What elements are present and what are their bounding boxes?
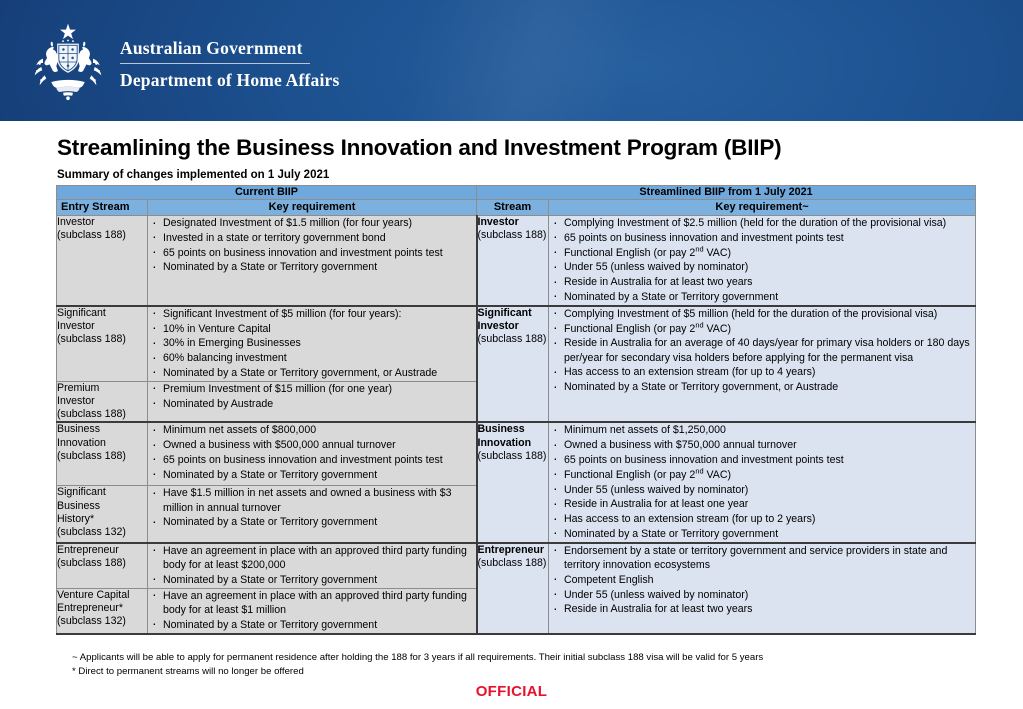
requirement-item: Minimum net assets of $800,000 <box>148 423 476 437</box>
requirement-list: Minimum net assets of $800,000Owned a bu… <box>148 423 476 482</box>
key-requirement-cell-streamlined: Endorsement by a state or territory gove… <box>549 543 976 634</box>
footnote-asterisk: * Direct to permanent streams will no lo… <box>72 665 972 679</box>
requirement-item: Under 55 (unless waived by nominator) <box>549 483 975 497</box>
table-row: Entrepreneur(subclass 188)Have an agreem… <box>57 543 976 588</box>
key-requirement-cell-current: Significant Investment of $5 million (fo… <box>148 306 477 381</box>
requirement-item: 30% in Emerging Businesses <box>148 336 476 350</box>
requirement-item: Minimum net assets of $1,250,000 <box>549 423 975 437</box>
requirement-item: Complying Investment of $2.5 million (he… <box>549 216 975 230</box>
requirement-list: Have an agreement in place with an appro… <box>148 544 476 587</box>
government-line-1: Australian Government <box>120 38 380 58</box>
entry-stream-cell: Entrepreneur(subclass 188) <box>57 543 148 588</box>
requirement-item: 10% in Venture Capital <box>148 322 476 336</box>
table-group-header-row: Current BIIP Streamlined BIIP from 1 Jul… <box>57 186 976 200</box>
stream-subclass: (subclass 188) <box>478 557 549 570</box>
footnotes: ~ Applicants will be able to apply for p… <box>72 651 972 678</box>
entry-stream-label: Venture CapitalEntrepreneur*(subclass 13… <box>57 589 147 629</box>
requirement-item: 60% balancing investment <box>148 351 476 365</box>
group-header-streamlined-biip: Streamlined BIIP from 1 July 2021 <box>477 186 976 200</box>
column-header-stream: Stream <box>477 200 549 216</box>
requirement-item: Nominated by a State or Territory govern… <box>148 573 476 587</box>
requirement-item: Has access to an extension stream (for u… <box>549 512 975 526</box>
requirement-item: Reside in Australia for at least two yea… <box>549 275 975 289</box>
group-header-current-biip: Current BIIP <box>57 186 477 200</box>
biip-comparison-table: Current BIIP Streamlined BIIP from 1 Jul… <box>56 185 976 635</box>
table-body: Investor(subclass 188)Designated Investm… <box>57 216 976 634</box>
table-row: SignificantInvestor(subclass 188)Signifi… <box>57 306 976 381</box>
requirement-item: Functional English (or pay 2nd VAC) <box>549 322 975 336</box>
key-requirement-cell-streamlined: Complying Investment of $2.5 million (he… <box>549 216 976 306</box>
requirement-item: Has access to an extension stream (for u… <box>549 365 975 379</box>
stream-label: SignificantInvestor <box>478 307 549 333</box>
requirement-item: Nominated by a State or Territory govern… <box>148 260 476 274</box>
entry-stream-cell: PremiumInvestor(subclass 188) <box>57 381 148 422</box>
requirement-item: Functional English (or pay 2nd VAC) <box>549 468 975 482</box>
table-column-header-row: Entry Stream Key requirement Stream Key … <box>57 200 976 216</box>
requirement-item: Complying Investment of $5 million (held… <box>549 307 975 321</box>
entry-stream-label: BusinessInnovation(subclass 188) <box>57 423 147 463</box>
requirement-item: Nominated by a State or Territory govern… <box>148 468 476 482</box>
column-header-key-requirement-right: Key requirement~ <box>549 200 976 216</box>
requirement-item: Invested in a state or territory governm… <box>148 231 476 245</box>
stream-cell: Entrepreneur(subclass 188) <box>477 543 549 634</box>
stream-label: BusinessInnovation <box>478 423 549 449</box>
requirement-item: Competent English <box>549 573 975 587</box>
key-requirement-cell-current: Have $1.5 million in net assets and owne… <box>148 486 477 543</box>
key-requirement-cell-current: Have an agreement in place with an appro… <box>148 543 477 588</box>
key-requirement-cell-streamlined: Complying Investment of $5 million (held… <box>549 306 976 423</box>
page-banner: Australian Government Department of Home… <box>0 0 1023 121</box>
requirement-list: Endorsement by a state or territory gove… <box>549 544 975 617</box>
classification-marking: OFFICIAL <box>0 683 1023 700</box>
stream-subclass: (subclass 188) <box>478 450 549 463</box>
requirement-item: Reside in Australia for at least two yea… <box>549 602 975 616</box>
footnote-tilde: ~ Applicants will be able to apply for p… <box>72 651 972 665</box>
stream-cell: BusinessInnovation(subclass 188) <box>477 422 549 542</box>
requirement-list: Have $1.5 million in net assets and owne… <box>148 486 476 529</box>
requirement-item: Nominated by a State or Territory govern… <box>549 290 975 304</box>
requirement-item: Have $1.5 million in net assets and owne… <box>148 486 476 515</box>
table-row: Investor(subclass 188)Designated Investm… <box>57 216 976 306</box>
requirement-list: Premium Investment of $15 million (for o… <box>148 382 476 411</box>
requirement-list: Complying Investment of $5 million (held… <box>549 307 975 395</box>
requirement-item: Nominated by Austrade <box>148 397 476 411</box>
requirement-list: Designated Investment of $1.5 million (f… <box>148 216 476 275</box>
entry-stream-label: PremiumInvestor(subclass 188) <box>57 382 147 422</box>
department-line-2: Department of Home Affairs <box>120 70 380 90</box>
requirement-item: Under 55 (unless waived by nominator) <box>549 588 975 602</box>
key-requirement-cell-current: Have an agreement in place with an appro… <box>148 588 477 633</box>
entry-stream-cell: SignificantBusinessHistory*(subclass 132… <box>57 486 148 543</box>
requirement-list: Minimum net assets of $1,250,000Owned a … <box>549 423 975 541</box>
requirement-item: Nominated by a State or Territory govern… <box>148 366 476 380</box>
requirement-item: Have an agreement in place with an appro… <box>148 589 476 618</box>
page-subtitle: Summary of changes implemented on 1 July… <box>57 169 329 181</box>
entry-stream-cell: Venture CapitalEntrepreneur*(subclass 13… <box>57 588 148 633</box>
key-requirement-cell-current: Premium Investment of $15 million (for o… <box>148 381 477 422</box>
entry-stream-label: SignificantBusinessHistory*(subclass 132… <box>57 486 147 539</box>
requirement-item: Premium Investment of $15 million (for o… <box>148 382 476 396</box>
requirement-list: Complying Investment of $2.5 million (he… <box>549 216 975 304</box>
requirement-item: 65 points on business innovation and inv… <box>549 231 975 245</box>
column-header-entry-stream: Entry Stream <box>57 200 148 216</box>
requirement-item: 65 points on business innovation and inv… <box>148 246 476 260</box>
requirement-item: Endorsement by a state or territory gove… <box>549 544 975 573</box>
stream-cell: Investor(subclass 188) <box>477 216 549 306</box>
entry-stream-label: Entrepreneur(subclass 188) <box>57 544 147 570</box>
key-requirement-cell-streamlined: Minimum net assets of $1,250,000Owned a … <box>549 422 976 542</box>
australian-coat-of-arms-icon <box>25 22 111 102</box>
requirement-item: Nominated by a State or Territory govern… <box>549 380 975 394</box>
page-title: Streamlining the Business Innovation and… <box>57 135 781 161</box>
requirement-list: Have an agreement in place with an appro… <box>148 589 476 632</box>
requirement-item: Reside in Australia for an average of 40… <box>549 336 975 365</box>
requirement-item: Significant Investment of $5 million (fo… <box>148 307 476 321</box>
requirement-item: 65 points on business innovation and inv… <box>549 453 975 467</box>
column-header-key-requirement-left: Key requirement <box>148 200 477 216</box>
requirement-item: Nominated by a State or Territory govern… <box>148 515 476 529</box>
stream-label: Entrepreneur <box>478 544 549 557</box>
table-row: BusinessInnovation(subclass 188)Minimum … <box>57 422 976 486</box>
requirement-item: 65 points on business innovation and inv… <box>148 453 476 467</box>
requirement-item: Nominated by a State or Territory govern… <box>148 618 476 632</box>
stream-subclass: (subclass 188) <box>478 333 549 346</box>
requirement-item: Designated Investment of $1.5 million (f… <box>148 216 476 230</box>
stream-label: Investor <box>478 216 549 229</box>
stream-subclass: (subclass 188) <box>478 229 549 242</box>
requirement-list: Significant Investment of $5 million (fo… <box>148 307 476 380</box>
key-requirement-cell-current: Minimum net assets of $800,000Owned a bu… <box>148 422 477 486</box>
requirement-item: Have an agreement in place with an appro… <box>148 544 476 573</box>
requirement-item: Nominated by a State or Territory govern… <box>549 527 975 541</box>
entry-stream-label: SignificantInvestor(subclass 188) <box>57 307 147 347</box>
entry-stream-label: Investor(subclass 188) <box>57 216 147 242</box>
entry-stream-cell: SignificantInvestor(subclass 188) <box>57 306 148 381</box>
requirement-item: Owned a business with $750,000 annual tu… <box>549 438 975 452</box>
wordmark-divider <box>120 63 310 64</box>
requirement-item: Owned a business with $500,000 annual tu… <box>148 438 476 452</box>
requirement-item: Reside in Australia for at least one yea… <box>549 497 975 511</box>
requirement-item: Functional English (or pay 2nd VAC) <box>549 246 975 260</box>
entry-stream-cell: BusinessInnovation(subclass 188) <box>57 422 148 486</box>
stream-cell: SignificantInvestor(subclass 188) <box>477 306 549 423</box>
entry-stream-cell: Investor(subclass 188) <box>57 216 148 306</box>
requirement-item: Under 55 (unless waived by nominator) <box>549 260 975 274</box>
government-wordmark: Australian Government Department of Home… <box>120 38 380 90</box>
key-requirement-cell-current: Designated Investment of $1.5 million (f… <box>148 216 477 306</box>
